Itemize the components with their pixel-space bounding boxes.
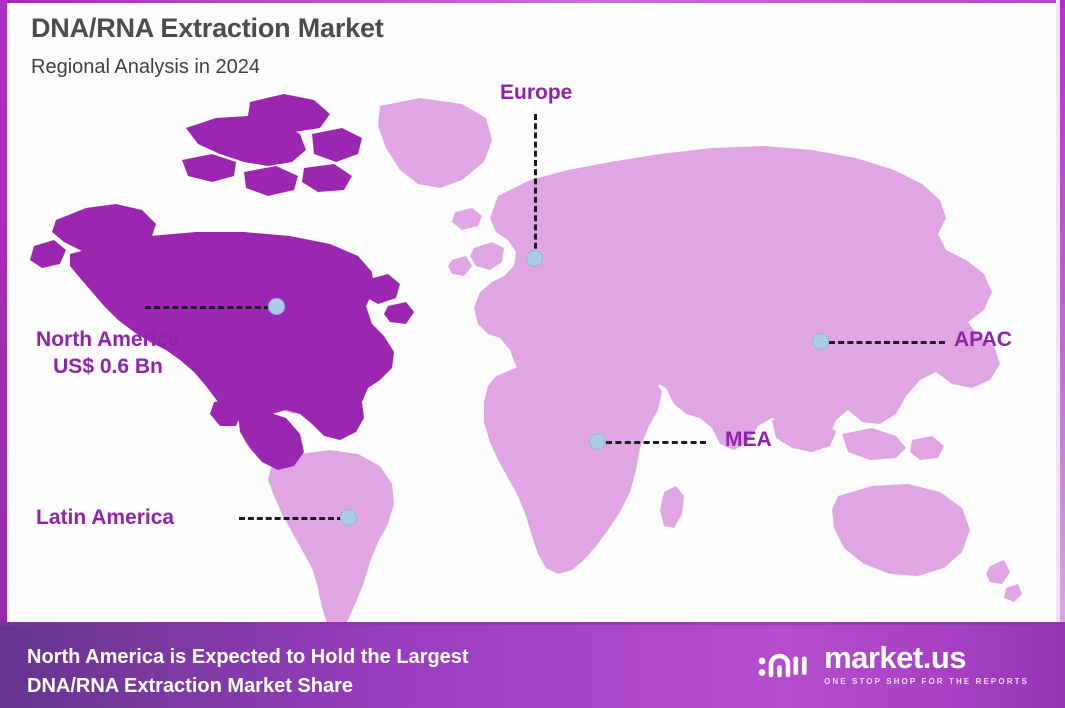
leader-line-north-america	[145, 306, 270, 309]
region-label-latin-america-text: Latin America	[36, 506, 174, 529]
page-title: DNA/RNA Extraction Market	[31, 12, 384, 46]
map-marker-latin-america[interactable]	[340, 509, 357, 526]
map-marker-north-america[interactable]	[268, 298, 285, 315]
logo-text-block: market.us ONE STOP SHOP FOR THE REPORTS	[824, 642, 1029, 686]
region-label-apac-text: APAC	[954, 328, 1012, 351]
map-highlight-region-north-america	[30, 94, 414, 470]
region-label-latin-america: Latin America	[36, 504, 174, 531]
page-subtitle: Regional Analysis in 2024	[31, 55, 384, 79]
heading-block: DNA/RNA Extraction Market Regional Analy…	[31, 12, 384, 79]
region-label-north-america-text: North America	[36, 328, 180, 351]
banner-message-line1: North America is Expected to Hold the La…	[27, 643, 469, 672]
market-us-logo-icon	[757, 644, 813, 684]
region-label-north-america: North America US$ 0.6 Bn	[13, 326, 203, 381]
map-marker-mea[interactable]	[589, 433, 606, 450]
map-marker-europe[interactable]	[526, 250, 543, 267]
leader-line-mea	[606, 441, 706, 444]
leader-line-latin-america	[239, 517, 343, 520]
region-label-mea-text: MEA	[725, 428, 772, 451]
leader-line-europe	[534, 114, 537, 258]
banner-top-divider	[0, 622, 1065, 625]
bottom-banner: North America is Expected to Hold the La…	[0, 622, 1065, 708]
region-value-north-america: US$ 0.6 Bn	[13, 353, 203, 380]
leader-line-apac	[829, 341, 945, 344]
brand-logo[interactable]: market.us ONE STOP SHOP FOR THE REPORTS	[757, 642, 1029, 686]
banner-message: North America is Expected to Hold the La…	[27, 643, 469, 701]
logo-name: market.us	[824, 642, 966, 673]
logo-tagline: ONE STOP SHOP FOR THE REPORTS	[824, 677, 1029, 686]
map-marker-apac[interactable]	[812, 333, 829, 350]
region-label-mea: MEA	[725, 426, 772, 453]
region-label-europe: Europe	[500, 79, 572, 106]
region-label-europe-text: Europe	[500, 81, 572, 104]
infographic-root: DNA/RNA Extraction Market Regional Analy…	[0, 0, 1065, 708]
frame-top-border	[0, 0, 1065, 3]
banner-message-line2: DNA/RNA Extraction Market Share	[27, 672, 469, 701]
region-label-apac: APAC	[954, 326, 1012, 353]
